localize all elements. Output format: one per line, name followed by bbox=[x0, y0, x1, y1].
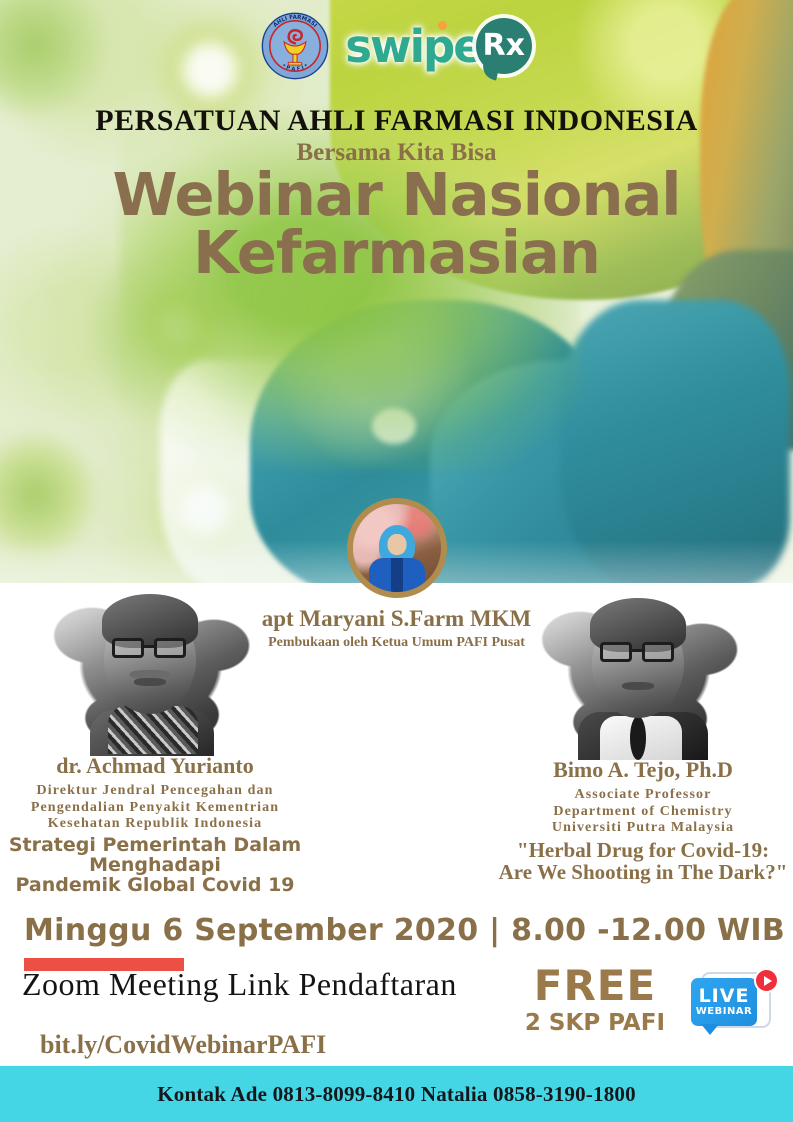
price-block: FREE 2 SKP PAFI bbox=[525, 965, 665, 1035]
left-speaker-name: dr. Achmad Yurianto bbox=[0, 753, 310, 779]
avatar-lapel bbox=[391, 558, 403, 592]
left-speaker-portrait bbox=[50, 586, 260, 751]
title-line-1: Webinar Nasional bbox=[0, 166, 793, 224]
left-affiliation-line-1: Direktur Jendral Pencegahan dan bbox=[0, 783, 310, 800]
portrait-glasses-bridge bbox=[144, 645, 156, 648]
left-speaker: dr. Achmad Yurianto Direktur Jendral Pen… bbox=[0, 586, 310, 895]
rx-speech-bubble-icon: Rx bbox=[476, 18, 532, 74]
background-photo bbox=[0, 0, 793, 584]
left-topic-line-1: Strategi Pemerintah Dalam Menghadapi bbox=[0, 835, 310, 875]
title-line-2: Kefarmasian bbox=[0, 224, 793, 282]
contact-text: Kontak Ade 0813-8099-8410 Natalia 0858-3… bbox=[157, 1082, 636, 1107]
footer-bar: Kontak Ade 0813-8099-8410 Natalia 0858-3… bbox=[0, 1066, 793, 1122]
left-topic-line-2: Pandemik Global Covid 19 bbox=[0, 875, 310, 895]
right-speaker: Bimo A. Tejo, Ph.D Associate Professor D… bbox=[488, 590, 793, 883]
badge-webinar-text: WEBINAR bbox=[696, 1007, 753, 1017]
portrait-glasses-right bbox=[642, 642, 674, 662]
swipe-wordmark: swipe bbox=[345, 24, 482, 69]
logo-row: AHLI FARMASI * P A F I * swipe Rx bbox=[0, 8, 793, 84]
event-date-time: Minggu 6 September 2020 | 8.00 -12.00 WI… bbox=[24, 913, 785, 948]
right-affiliation-line-3: Universiti Putra Malaysia bbox=[488, 820, 793, 837]
right-topic-line-1: "Herbal Drug for Covid-19: bbox=[488, 839, 793, 861]
pafi-logo-icon: AHLI FARMASI * P A F I * bbox=[261, 12, 329, 80]
portrait-mouth bbox=[134, 678, 166, 686]
right-affiliation-line-2: Department of Chemistry bbox=[488, 804, 793, 821]
price-label: FREE bbox=[525, 965, 665, 1007]
badge-front-bubble: LIVE WEBINAR bbox=[691, 978, 757, 1026]
rx-label: Rx bbox=[483, 31, 525, 61]
left-speaker-topic: Strategi Pemerintah Dalam Menghadapi Pan… bbox=[0, 835, 310, 895]
right-speaker-affiliation: Associate Professor Department of Chemis… bbox=[488, 787, 793, 837]
right-topic-line-2: Are We Shooting in The Dark?" bbox=[488, 861, 793, 883]
live-webinar-badge: LIVE WEBINAR bbox=[687, 968, 779, 1040]
avatar bbox=[347, 498, 447, 598]
portrait-glasses-left bbox=[112, 638, 144, 658]
credits-label: 2 SKP PAFI bbox=[525, 1012, 665, 1035]
swiperx-logo: swipe Rx bbox=[345, 18, 532, 74]
left-speaker-affiliation: Direktur Jendral Pencegahan dan Pengenda… bbox=[0, 783, 310, 833]
portrait-glasses-bridge bbox=[632, 649, 644, 652]
page-title: Webinar Nasional Kefarmasian bbox=[0, 166, 793, 283]
left-affiliation-line-3: Kesehatan Republik Indonesia bbox=[0, 816, 310, 833]
avatar-face bbox=[387, 534, 406, 555]
platform-registration-label: Zoom Meeting Link Pendaftaran bbox=[22, 966, 457, 1003]
avatar-person bbox=[367, 530, 427, 598]
portrait-mouth bbox=[622, 682, 654, 690]
badge-live-text: LIVE bbox=[699, 987, 750, 1006]
left-affiliation-line-2: Pengendalian Penyakit Kementrian bbox=[0, 800, 310, 817]
swipe-dot-icon bbox=[438, 21, 447, 30]
registration-link[interactable]: bit.ly/CovidWebinarPAFI bbox=[40, 1030, 326, 1060]
right-affiliation-line-1: Associate Professor bbox=[488, 787, 793, 804]
portrait-tie bbox=[630, 716, 646, 760]
portrait-glasses-right bbox=[154, 638, 186, 658]
right-speaker-name: Bimo A. Tejo, Ph.D bbox=[488, 757, 793, 783]
webinar-poster: AHLI FARMASI * P A F I * swipe Rx PERSAT… bbox=[0, 0, 793, 1122]
right-speaker-topic: "Herbal Drug for Covid-19: Are We Shooti… bbox=[488, 839, 793, 884]
right-speaker-portrait bbox=[538, 590, 748, 755]
organization-name: PERSATUAN AHLI FARMASI INDONESIA bbox=[0, 104, 793, 138]
portrait-glasses-left bbox=[600, 642, 632, 662]
play-button-icon bbox=[754, 968, 779, 993]
